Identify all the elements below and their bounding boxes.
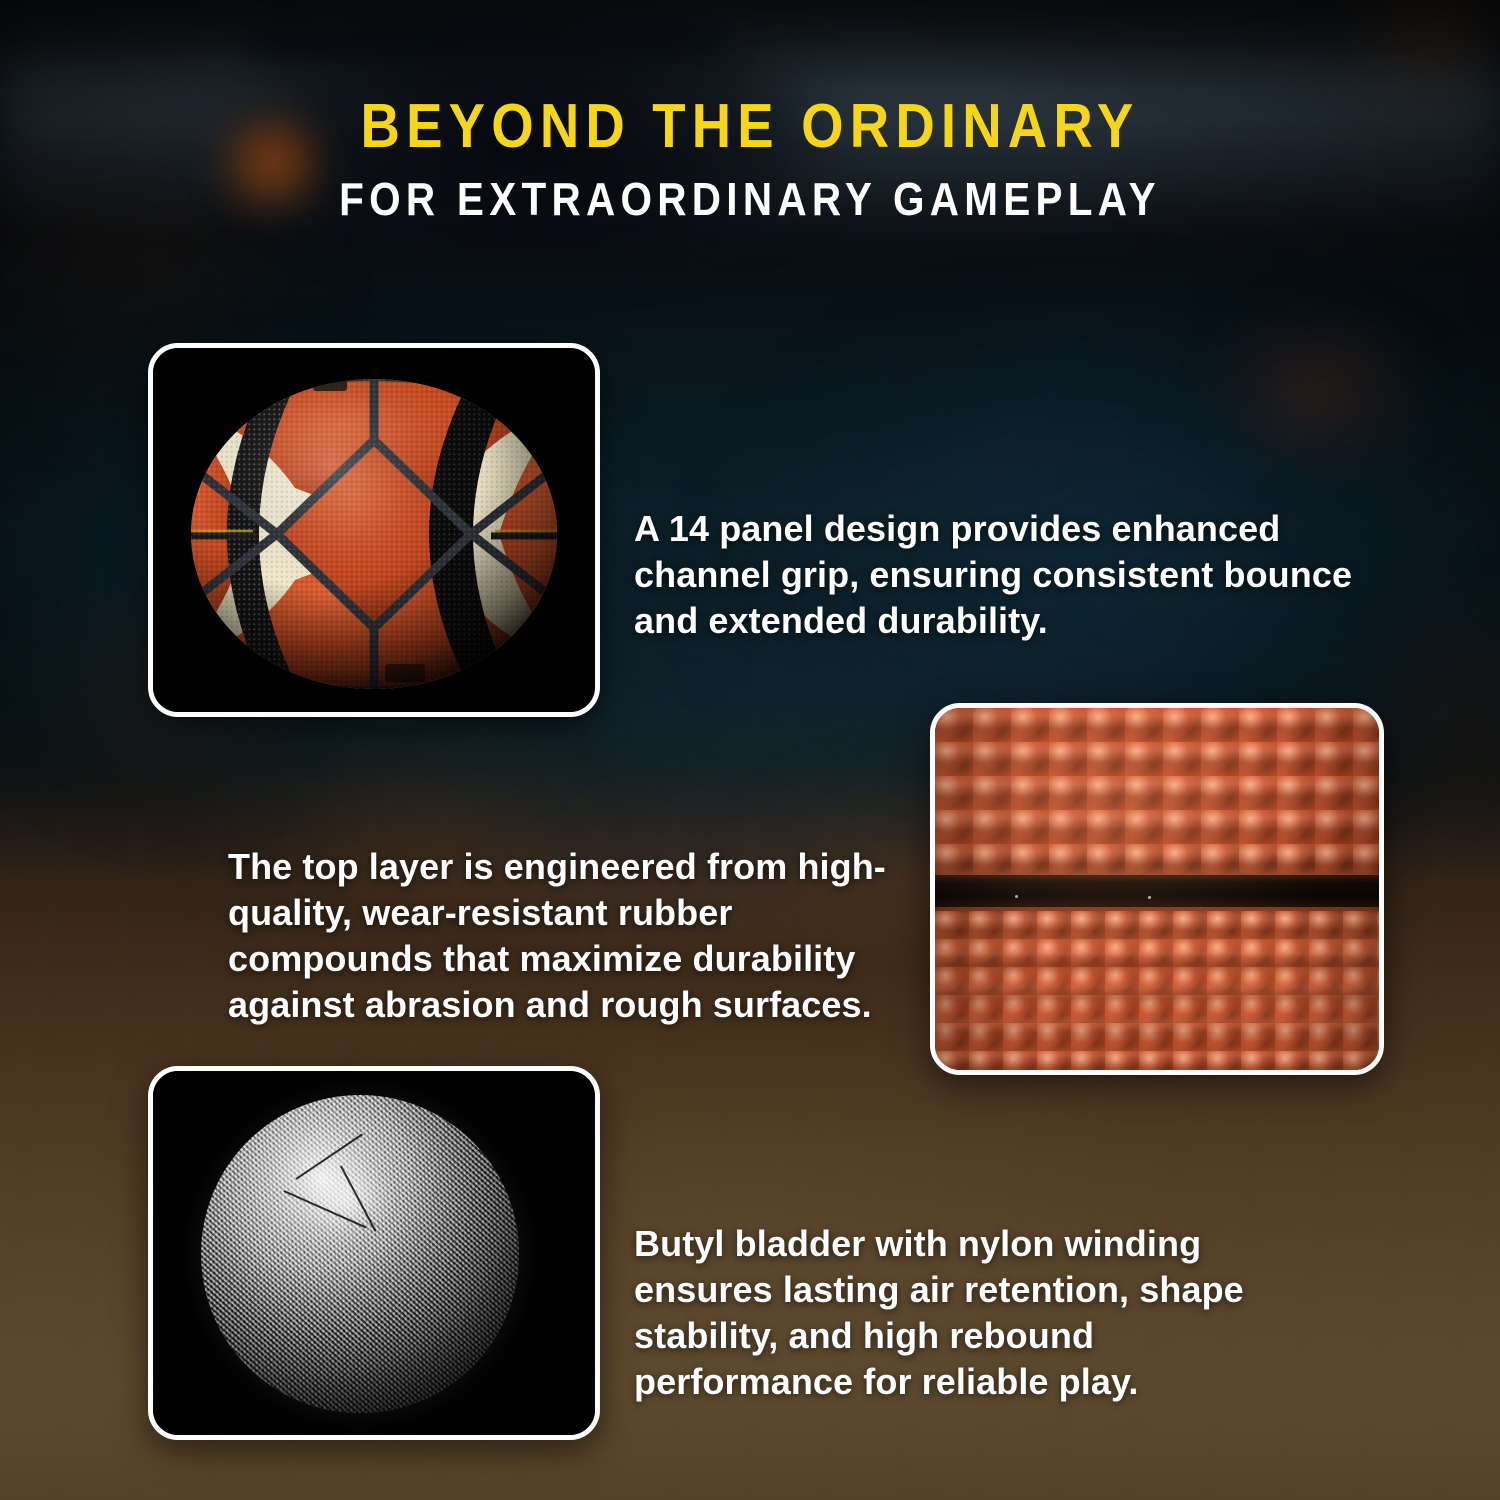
header-block: BEYOND THE ORDINARY FOR EXTRAORDINARY GA… [0, 96, 1500, 222]
background-bokeh-light [1355, 0, 1500, 90]
feature-image-card-panel-design [148, 343, 600, 717]
rubber-lighting-overlay [935, 708, 1379, 1070]
page-title: BEYOND THE ORDINARY [90, 96, 1410, 158]
feature-text-panel-design: A 14 panel design provides enhanced chan… [634, 506, 1379, 644]
bladder-sphere-shading [201, 1095, 519, 1413]
feature-image-card-bladder [148, 1066, 600, 1440]
rubber-pebble-texture-closeup [935, 708, 1379, 1070]
infographic-page: BEYOND THE ORDINARY FOR EXTRAORDINARY GA… [0, 0, 1500, 1500]
bladder-sphere [201, 1095, 519, 1413]
background-backboard-bar [255, 28, 725, 54]
background-bokeh-light [1230, 330, 1410, 450]
background-bokeh-light [1370, 620, 1500, 810]
feature-image-card-rubber-texture [930, 703, 1384, 1075]
basketball-illustration [153, 348, 595, 712]
basketball-14-panel-closeup [153, 348, 595, 712]
feature-text-top-layer-rubber: The top layer is engineered from high-qu… [228, 844, 908, 1028]
butyl-bladder-nylon-winding [153, 1071, 595, 1435]
feature-text-butyl-bladder: Butyl bladder with nylon winding ensures… [634, 1221, 1294, 1405]
page-subtitle: FOR EXTRAORDINARY GAMEPLAY [90, 176, 1410, 222]
